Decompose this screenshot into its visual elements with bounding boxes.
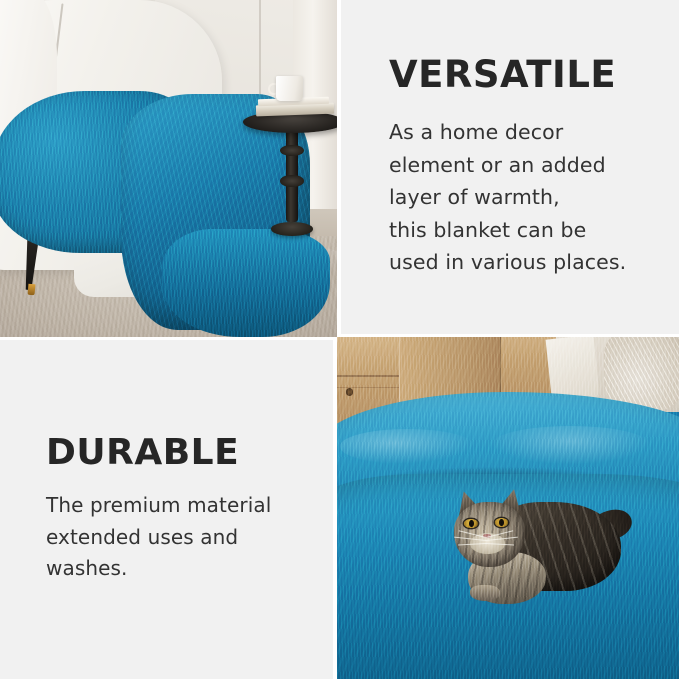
fur-texture bbox=[162, 229, 331, 337]
living-room-scene bbox=[0, 0, 337, 337]
cat-pupil-left bbox=[469, 520, 474, 526]
versatile-text-wrap: VERSATILE As a home decor element or an … bbox=[341, 56, 679, 279]
side-table-turning-lower bbox=[280, 175, 304, 186]
headboard-line-lower bbox=[337, 387, 399, 388]
durable-heading: DURABLE bbox=[46, 434, 319, 472]
durable-body: The premium material extended uses and w… bbox=[46, 490, 319, 585]
chair-with-teal-throw-photo bbox=[0, 0, 337, 337]
white-mug bbox=[276, 76, 303, 101]
versatile-body: As a home decor element or an added laye… bbox=[389, 116, 665, 278]
blanket-fold-right bbox=[491, 426, 650, 464]
blanket-fold-left bbox=[340, 429, 475, 463]
versatile-heading: VERSATILE bbox=[389, 56, 665, 95]
cat-pupil-right bbox=[499, 519, 504, 525]
cat-paw-left bbox=[470, 585, 500, 601]
chair-leg-gold-tip-left bbox=[28, 284, 36, 295]
versatile-text-panel: VERSATILE As a home decor element or an … bbox=[337, 0, 679, 337]
bedroom-scene bbox=[337, 337, 679, 679]
drawer-knob bbox=[346, 388, 354, 396]
cat-on-teal-blanket-photo bbox=[337, 337, 679, 679]
headboard-line-upper bbox=[337, 375, 399, 377]
tabby-cat bbox=[440, 484, 618, 614]
durable-text-panel: DURABLE The premium material extended us… bbox=[0, 337, 337, 679]
durable-text-wrap: DURABLE The premium material extended us… bbox=[0, 434, 333, 585]
throw-blanket-hem bbox=[162, 229, 331, 337]
product-feature-grid: VERSATILE As a home decor element or an … bbox=[0, 0, 679, 679]
side-table-base bbox=[271, 222, 313, 235]
